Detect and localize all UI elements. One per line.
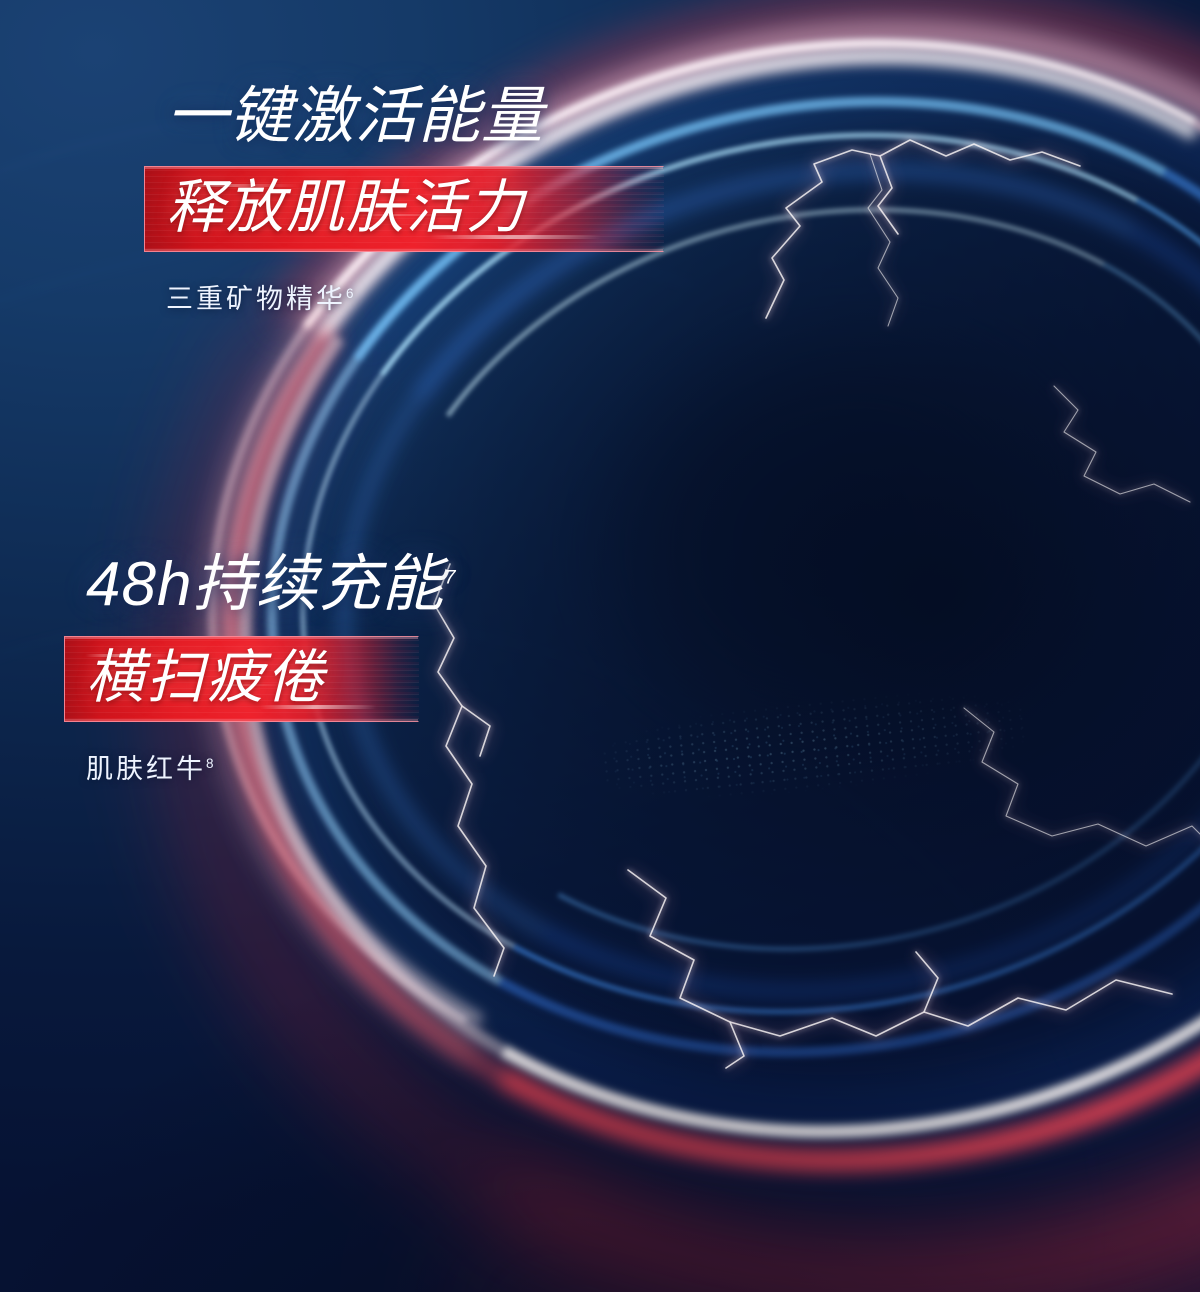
lightning-bolt-bottom-right xyxy=(960,700,1200,900)
lightning-bolt-right xyxy=(1050,380,1200,510)
highlight-banner-top: 释放肌肤活力 xyxy=(144,166,664,252)
headline-top-text: 一键激活能量 xyxy=(166,82,544,151)
headline-bottom-superscript: 7 xyxy=(444,566,455,588)
subline-bottom-superscript: 8 xyxy=(206,756,214,771)
banner-wrap-bottom: 横扫疲倦 xyxy=(64,636,455,727)
subline-bottom-text: 肌肤红牛 xyxy=(86,754,206,784)
banner-top-text: 释放肌肤活力 xyxy=(166,179,638,237)
subline-bottom: 肌肤红牛8 xyxy=(86,753,455,785)
message-block-top: 一键激活能量 释放肌肤活力 三重矿物精华6 xyxy=(166,84,664,315)
lightning-bolt-top-branch xyxy=(860,150,1030,330)
highlight-banner-bottom: 横扫疲倦 xyxy=(64,636,419,722)
banner-wrap-top: 释放肌肤活力 xyxy=(144,166,664,257)
subline-top-text: 三重矿物精华 xyxy=(166,284,346,314)
subline-top: 三重矿物精华6 xyxy=(166,283,664,315)
headline-bottom-text: 48h持续充能 xyxy=(86,550,444,619)
banner-bottom-text: 横扫疲倦 xyxy=(86,649,393,707)
headline-bottom: 48h持续充能7 xyxy=(86,552,455,618)
message-block-bottom: 48h持续充能7 横扫疲倦 肌肤红牛8 xyxy=(86,552,455,785)
promo-banner-stage: 一键激活能量 释放肌肤活力 三重矿物精华6 48h持续充能7 xyxy=(0,0,1200,1292)
headline-top: 一键激活能量 xyxy=(166,84,664,150)
subline-top-superscript: 6 xyxy=(346,286,354,301)
